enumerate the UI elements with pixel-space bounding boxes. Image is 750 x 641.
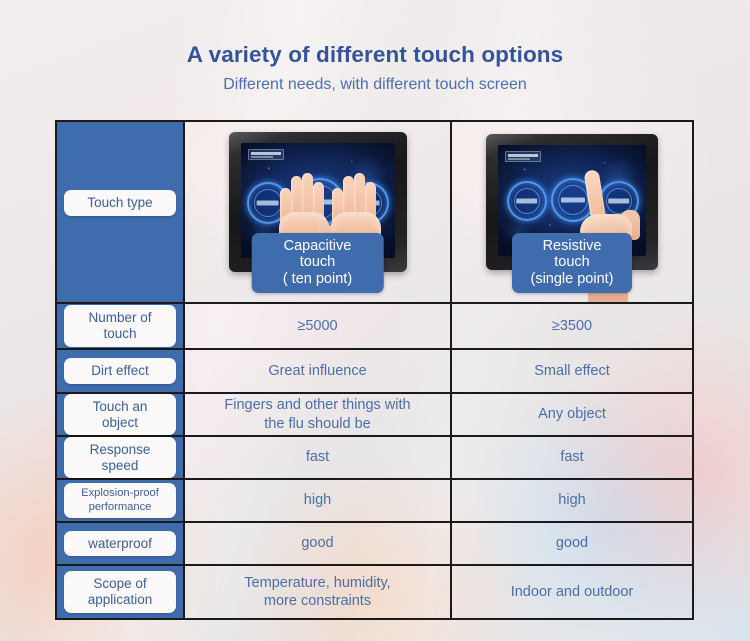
row-label-touch-type: Touch type — [64, 190, 176, 216]
hud-ring-icon — [551, 178, 595, 222]
hud-ring-icon — [599, 181, 639, 221]
cell-capacitive-value: Fingers and other things with the flu sh… — [185, 394, 452, 435]
table-row-touch-type: Touch type — [57, 122, 692, 304]
row-label-cell: Touch an object — [57, 394, 185, 435]
cell-resistive-value: high — [452, 480, 692, 521]
cell-capacitive-value: good — [185, 523, 452, 564]
hud-ring-icon — [507, 181, 547, 221]
cell-capacitive-value: Temperature, humidity, more constraints — [185, 566, 452, 618]
table-row: Number of touch ≥5000 ≥3500 — [57, 304, 692, 350]
caption-capacitive-touch: Capacitive touch ( ten point) — [251, 233, 384, 293]
cell-resistive-value: good — [452, 523, 692, 564]
row-label-dirt-effect: Dirt effect — [64, 358, 176, 384]
row-label-cell: Response speed — [57, 437, 185, 478]
cell-resistive-value: ≥3500 — [452, 304, 692, 348]
table-row: Touch an object Fingers and other things… — [57, 394, 692, 437]
row-label-number-of-touch: Number of touch — [64, 305, 176, 347]
row-label-cell: waterproof — [57, 523, 185, 564]
hud-ring-icon — [247, 182, 289, 224]
cell-capacitive-value: ≥5000 — [185, 304, 452, 348]
row-label-cell: Scope of application — [57, 566, 185, 618]
hero-cell-resistive: Resistive touch (single point) — [452, 122, 692, 302]
table-row: Dirt effect Great influence Small effect — [57, 350, 692, 394]
cell-resistive-value: Small effect — [452, 350, 692, 392]
cell-capacitive-value: high — [185, 480, 452, 521]
table-row: Scope of application Temperature, humidi… — [57, 566, 692, 618]
row-label-response-speed: Response speed — [64, 437, 176, 479]
row-label-explosion-proof-performance: Explosion-proof performance — [64, 483, 176, 517]
cell-resistive-value: Indoor and outdoor — [452, 566, 692, 618]
table-row: waterproof good good — [57, 523, 692, 566]
row-label-cell: Number of touch — [57, 304, 185, 348]
table-row: Explosion-proof performance high high — [57, 480, 692, 523]
hero-cell-capacitive: Capacitive touch ( ten point) — [185, 122, 452, 302]
row-label-cell: Explosion-proof performance — [57, 480, 185, 521]
page-root: A variety of different touch options Dif… — [0, 0, 750, 641]
row-label-scope-of-application: Scope of application — [64, 571, 176, 613]
page-heading: A variety of different touch options Dif… — [0, 0, 750, 94]
comparison-table: Touch type — [55, 120, 694, 620]
row-label-touch-an-object: Touch an object — [64, 394, 176, 436]
table-row: Response speed fast fast — [57, 437, 692, 480]
cell-capacitive-value: Great influence — [185, 350, 452, 392]
row-label-cell: Touch type — [57, 122, 185, 302]
caption-resistive-touch: Resistive touch (single point) — [512, 233, 632, 293]
page-subtitle: Different needs, with different touch sc… — [0, 76, 750, 94]
page-title: A variety of different touch options — [0, 42, 750, 68]
row-label-waterproof: waterproof — [64, 531, 176, 557]
cell-resistive-value: fast — [452, 437, 692, 478]
hud-ring-icon — [296, 178, 344, 226]
cell-capacitive-value: fast — [185, 437, 452, 478]
row-label-cell: Dirt effect — [57, 350, 185, 392]
cell-resistive-value: Any object — [452, 394, 692, 435]
hud-ring-icon — [347, 182, 389, 224]
